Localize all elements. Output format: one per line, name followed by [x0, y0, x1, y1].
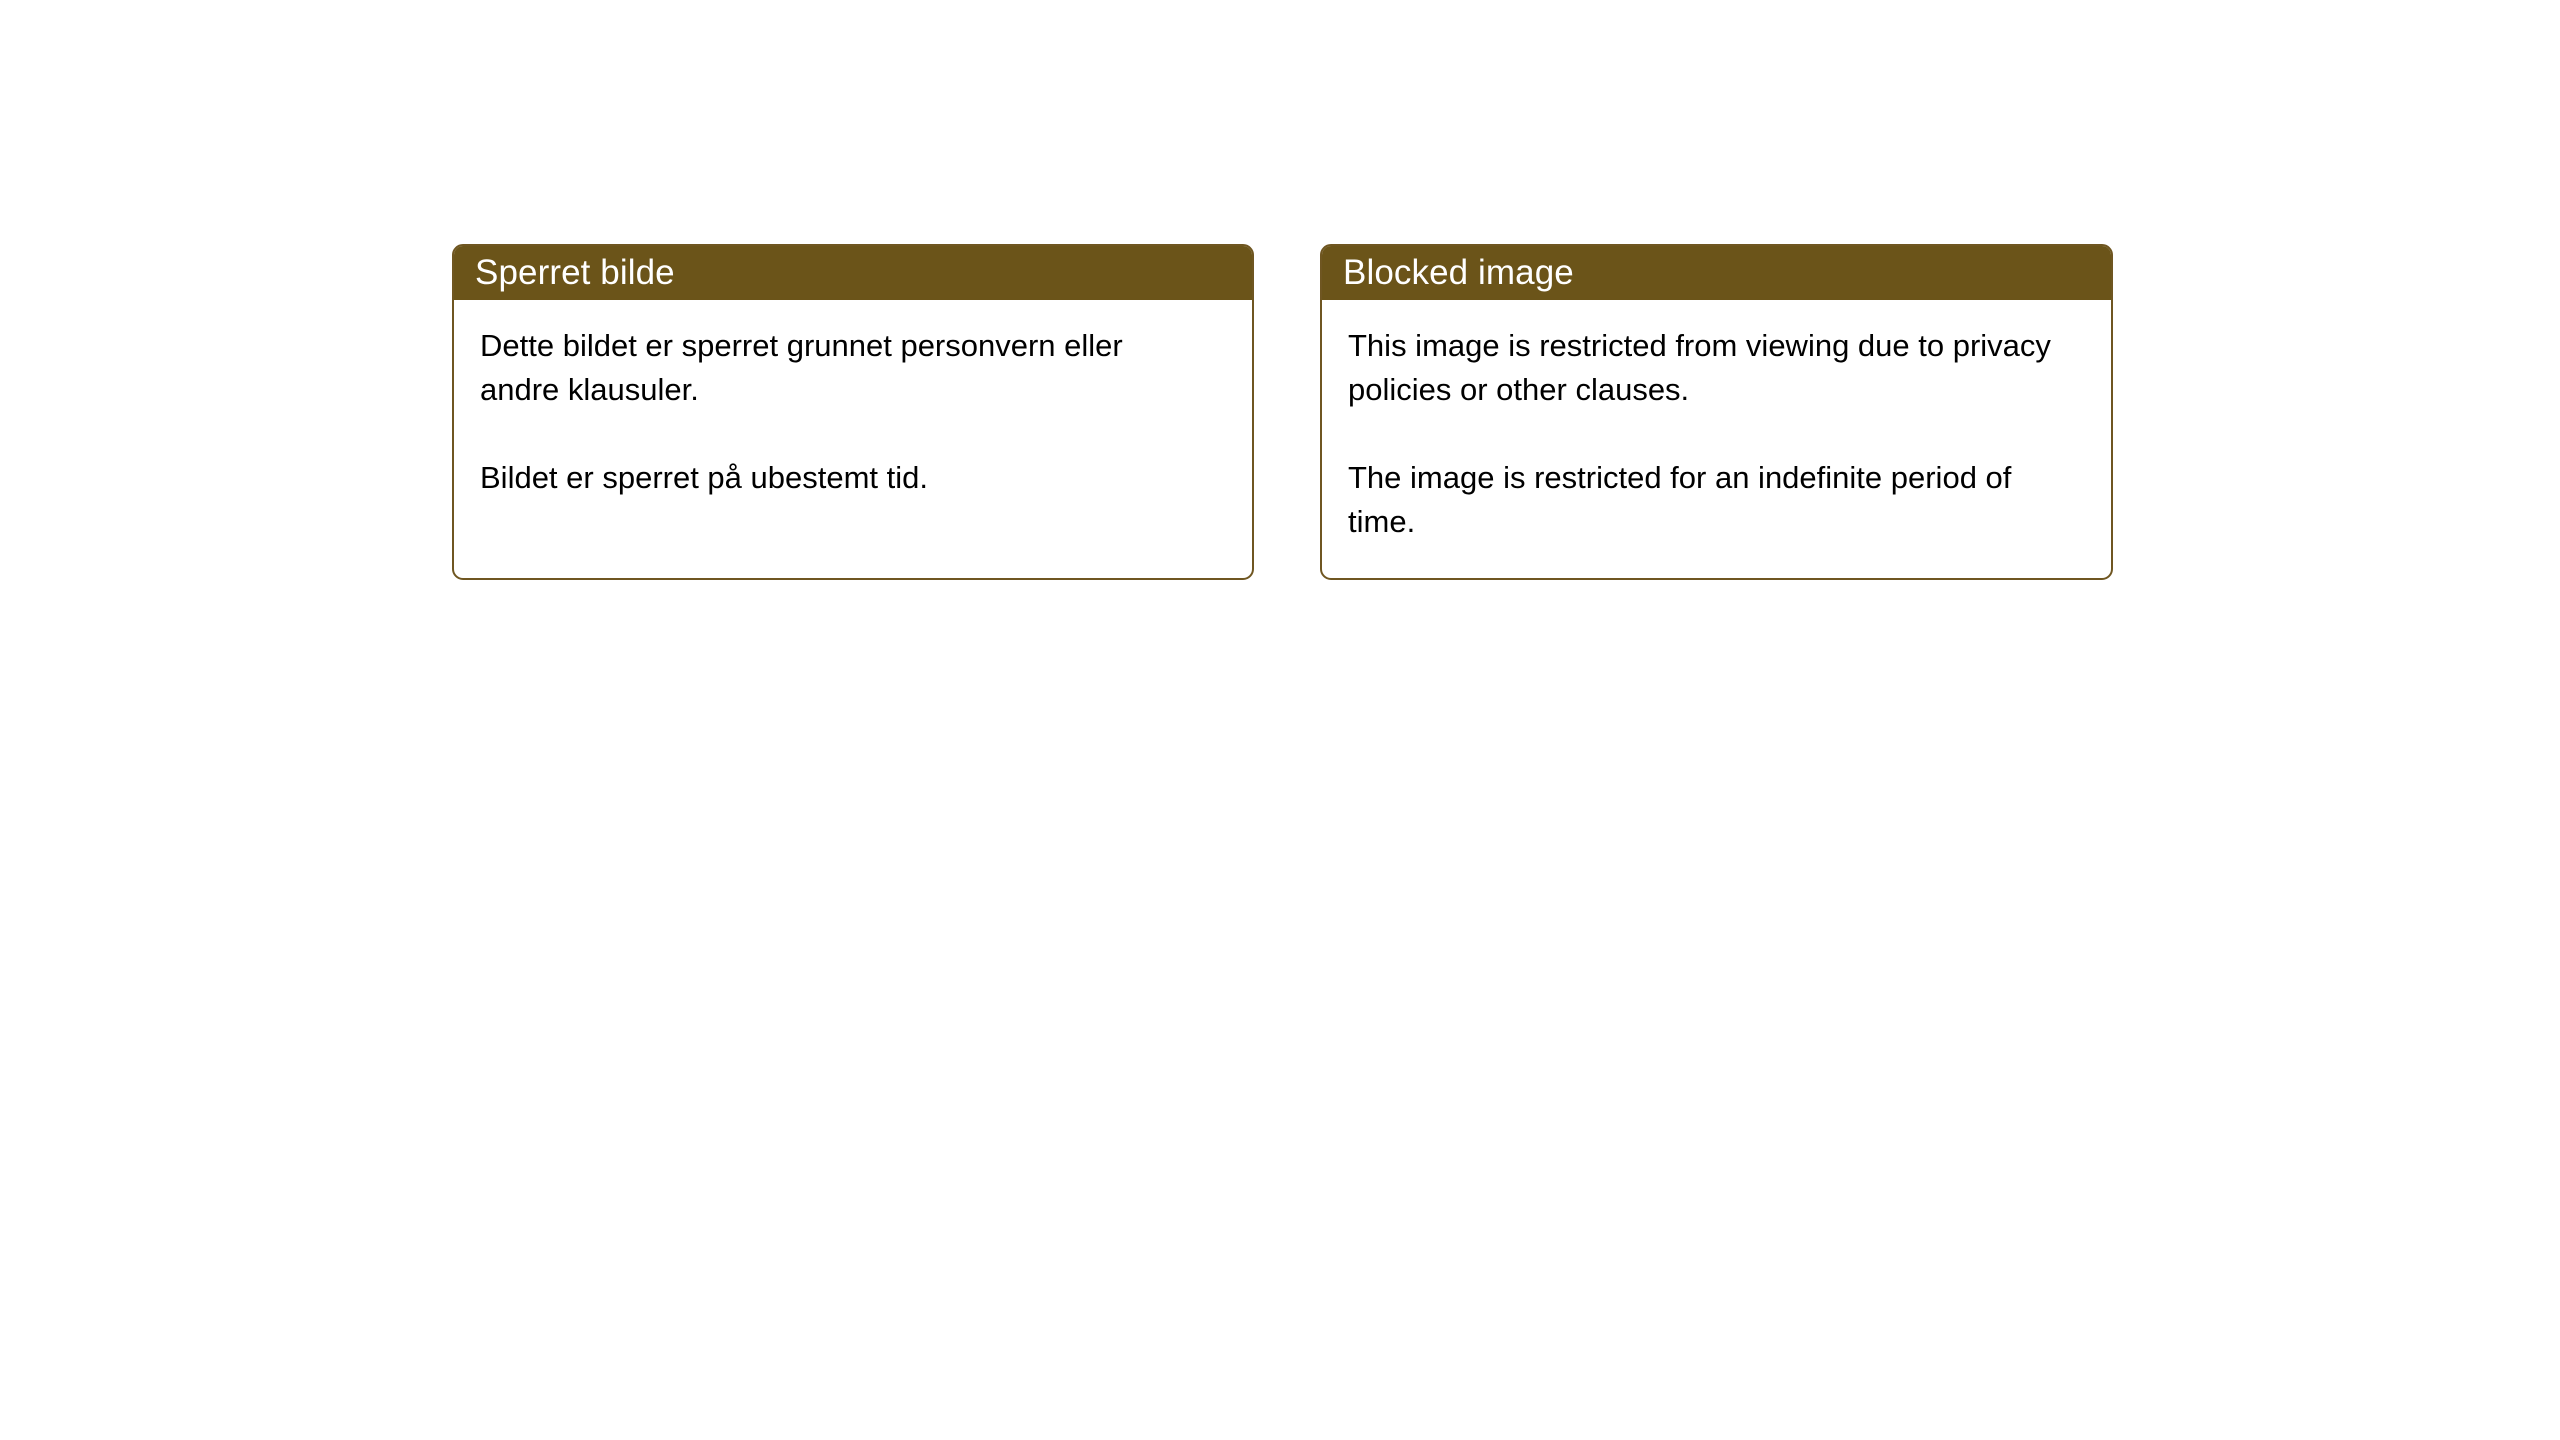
- card-title-english: Blocked image: [1343, 255, 1574, 290]
- blocked-image-notice-card-norwegian: Sperret bilde Dette bildet er sperret gr…: [452, 244, 1254, 580]
- blocked-image-notice-card-english: Blocked image This image is restricted f…: [1320, 244, 2113, 580]
- card-paragraph-secondary-norwegian: Bildet er sperret på ubestemt tid.: [480, 456, 1180, 500]
- card-header-norwegian: Sperret bilde: [452, 244, 1254, 300]
- card-paragraph-primary-english: This image is restricted from viewing du…: [1348, 324, 2085, 412]
- card-title-norwegian: Sperret bilde: [475, 255, 675, 290]
- card-header-english: Blocked image: [1320, 244, 2113, 300]
- card-body-english: This image is restricted from viewing du…: [1322, 300, 2111, 544]
- card-body-norwegian: Dette bildet er sperret grunnet personve…: [454, 300, 1252, 500]
- card-paragraph-primary-norwegian: Dette bildet er sperret grunnet personve…: [480, 324, 1180, 412]
- page-canvas: Sperret bilde Dette bildet er sperret gr…: [0, 0, 2560, 1440]
- card-paragraph-secondary-english: The image is restricted for an indefinit…: [1348, 456, 2085, 544]
